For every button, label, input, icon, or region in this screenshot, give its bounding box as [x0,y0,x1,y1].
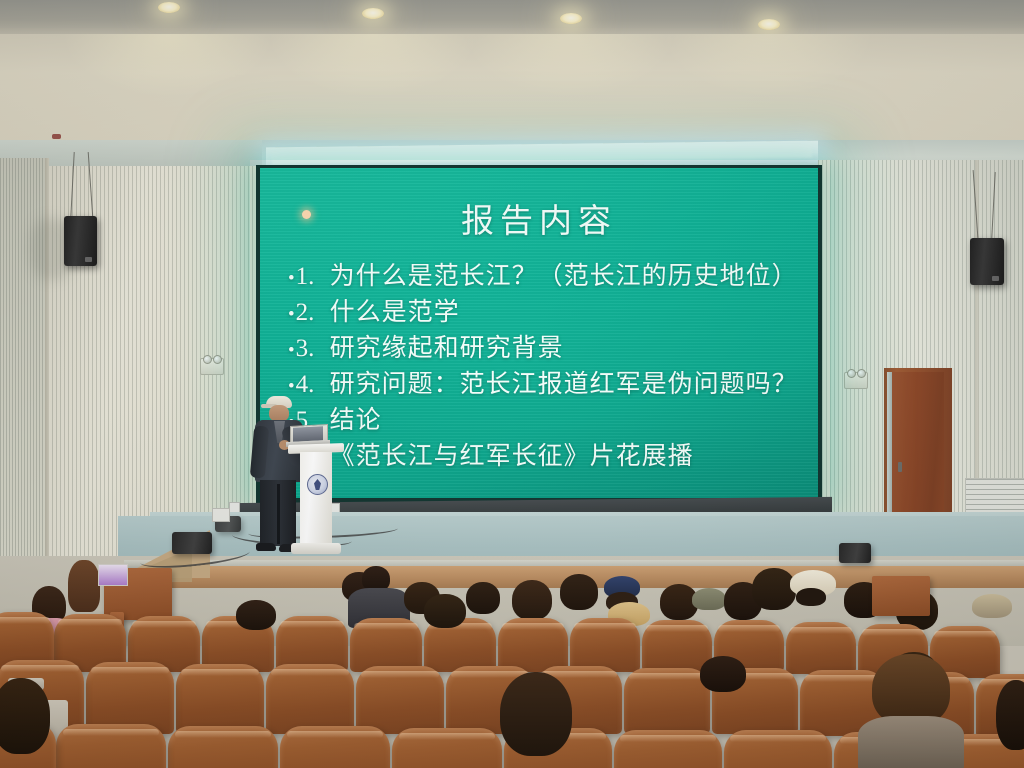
attendee-hair [68,560,100,612]
seat [624,668,710,734]
slide-title: 报告内容 [260,194,818,242]
seat [56,724,166,768]
attendee-hair [796,588,826,606]
cap-patterned-icon [972,594,1012,618]
slide-list-item: • 4. 研究问题：范长江报道红军是伪问题吗？ [288,368,812,404]
attendee-hair [500,672,572,756]
item-text: 为什么是范长江？（范长江的历史地位） [330,260,798,294]
seat [392,728,502,768]
seat [168,726,278,768]
podium-emblem-icon [307,474,328,495]
slide-list-item: • 6. 《范长江与红军长征》片花展播 [288,440,812,476]
attendee-hair [236,600,276,630]
downlight-icon [362,8,384,19]
door-handle[interactable] [898,462,902,472]
bullet-icon: • [288,262,295,296]
seat [266,664,354,734]
attendee-with-cap [692,588,726,622]
seat [724,730,832,768]
cap-olive-icon [692,588,726,610]
emergency-lamp-icon [857,369,866,378]
upper-wall [0,34,1024,144]
smoke-detector-icon [52,134,61,139]
item-number: 2. [296,296,330,330]
attendee-hair [996,680,1024,750]
hanging-speaker-right [970,238,1004,285]
attendee-body [858,716,964,768]
downlight-icon [560,13,582,24]
bullet-icon: • [288,334,295,368]
seat [176,664,264,734]
attendee-hair [466,582,500,614]
item-number: 1. [296,260,330,294]
item-text: 研究问题：范长江报道红军是伪问题吗？ [330,368,798,402]
slide-list-item: • 1. 为什么是范长江？（范长江的历史地位） [288,260,812,296]
podium-base [291,543,341,554]
attendee [352,566,412,622]
slide-list-item: • 2. 什么是范学 [288,296,812,332]
seat [350,618,422,672]
emergency-lamp-icon [213,355,222,364]
stage-power-box [212,508,230,522]
attendee-hair [512,580,552,620]
attendee [424,594,466,628]
seat [280,726,390,768]
attendee-hair [0,678,50,754]
laptop-open [98,564,128,586]
attendee [862,654,960,768]
photo-scene: 报告内容 • 1. 为什么是范长江？（范长江的历史地位） • 2. 什么是范学 … [0,0,1024,768]
attendee-hair [424,594,466,628]
item-text: 什么是范学 [330,296,460,330]
emergency-lamp-icon [203,355,212,364]
slide-bullet-list: • 1. 为什么是范长江？（范长江的历史地位） • 2. 什么是范学 • 3. … [288,260,812,476]
attendee-hair [560,574,598,610]
attendee [560,574,598,618]
item-text: 结论 [330,404,382,438]
attendee [466,582,500,622]
downlight-icon [758,19,780,30]
emergency-lamp-icon [847,369,856,378]
slide-list-item: • 3. 研究缘起和研究背景 [288,332,812,368]
attendee [500,672,572,768]
attendee [996,680,1024,768]
emergency-light-right [844,372,868,389]
audience-seating [0,560,1024,768]
attendee [236,600,276,630]
seat [570,618,640,672]
attendee [0,678,50,768]
item-text: 《范长江与红军长征》片花展播 [330,440,694,474]
hanging-speaker-left [64,216,97,266]
attendee [700,656,746,692]
seat [786,622,856,674]
side-desk [872,576,930,616]
seat [498,618,568,672]
podium [300,444,332,560]
downlight-icon [158,2,180,13]
attendee-with-cap [790,570,836,610]
presenter-leg-split [277,484,280,544]
seat [614,730,722,768]
item-number: 3. [296,332,330,366]
seat [356,666,444,734]
left-wall-return [0,158,48,558]
bullet-icon: • [288,298,295,332]
presenter-shoe [256,543,276,551]
emergency-light-left [200,358,224,375]
item-text: 研究缘起和研究背景 [330,332,564,366]
podium-body [300,452,332,544]
attendee-hair [700,656,746,692]
slide-list-item: • 5. 结论 [288,404,812,440]
